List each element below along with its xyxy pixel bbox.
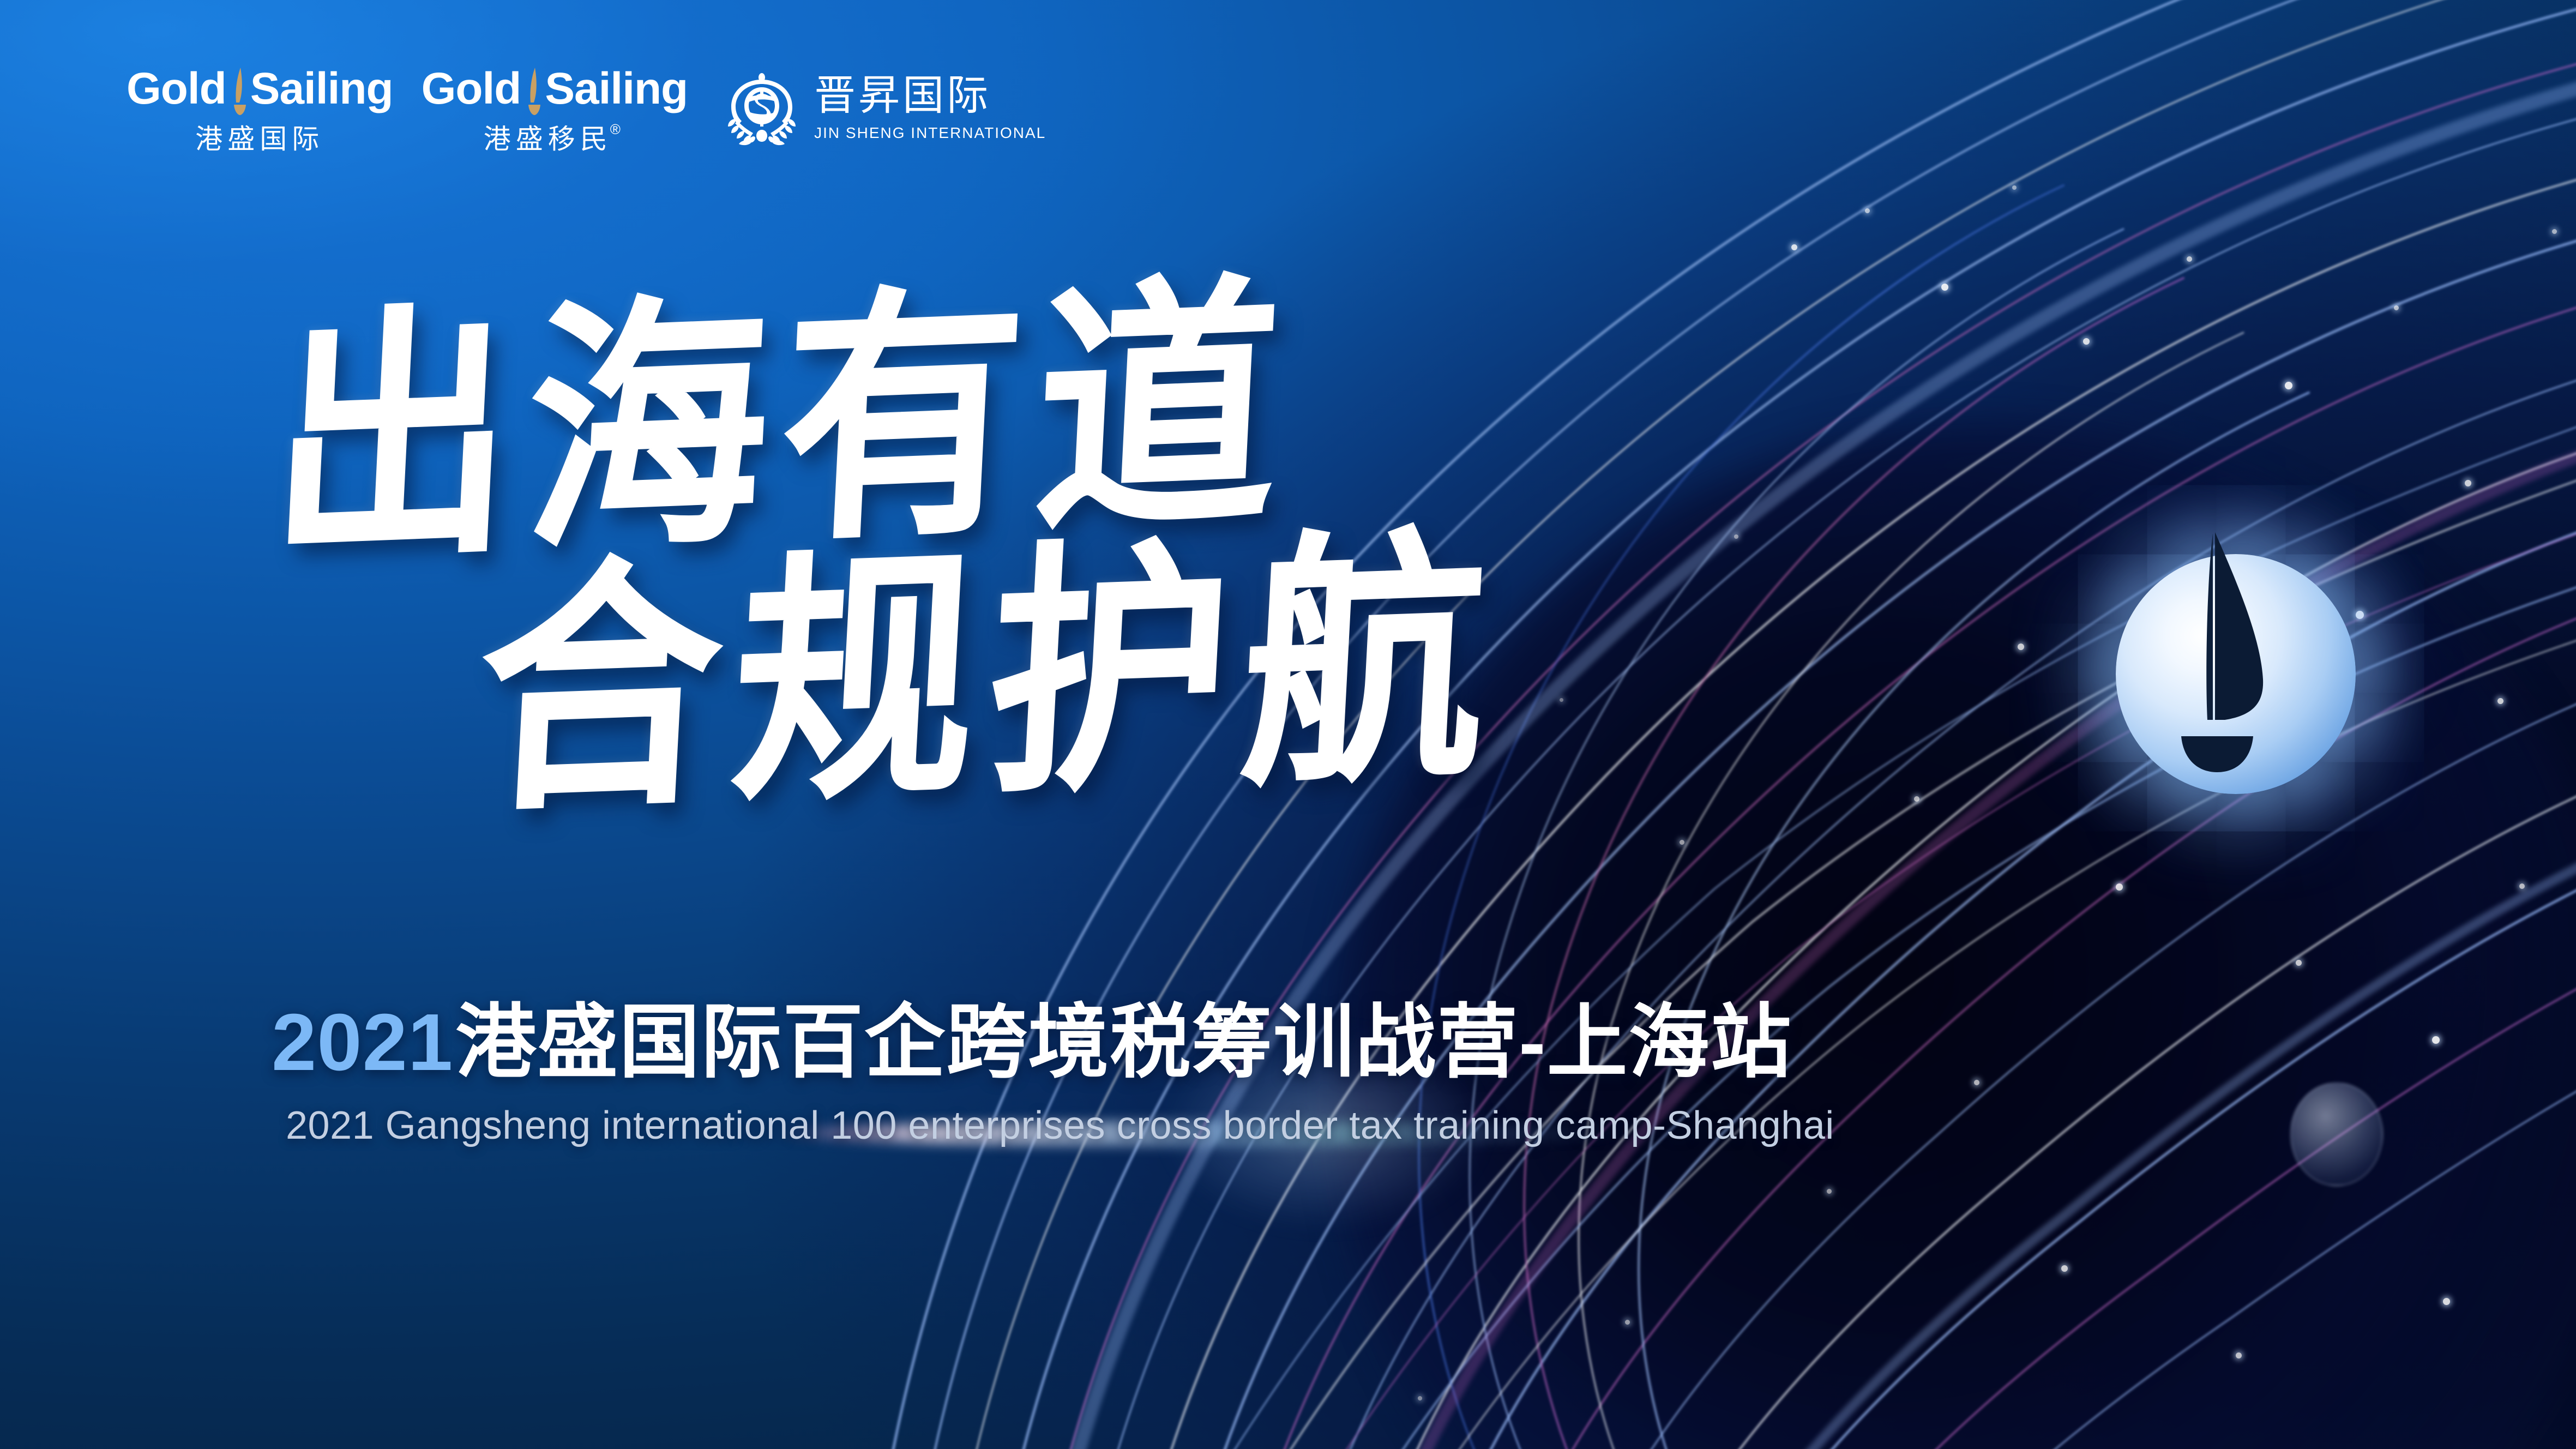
jin-sheng-english-name: JIN SHENG INTERNATIONAL xyxy=(814,125,1046,141)
sail-icon xyxy=(223,67,252,119)
promo-banner: Gold Sailing 港盛国际 Gold xyxy=(0,0,2576,1449)
subtitle-chinese-text: 港盛国际百企跨境税筹训战营-上海站 xyxy=(455,997,1792,1087)
logo-gold-sailing-guoji[interactable]: Gold Sailing 港盛国际 xyxy=(127,67,393,153)
logo-bar: Gold Sailing 港盛国际 Gold xyxy=(127,67,1046,153)
sailboat-silhouette-icon xyxy=(2094,524,2388,818)
logo-jin-sheng-international[interactable]: 晋昇国际 JIN SHENG INTERNATIONAL xyxy=(723,67,1046,147)
registered-trademark-mark: ® xyxy=(610,122,625,136)
logo-chinese-name: 港盛移民 ® xyxy=(484,125,625,153)
logo-gold-sailing-yimin[interactable]: Gold Sailing 港盛移民 ® xyxy=(422,67,688,153)
moon-and-sailboat xyxy=(2094,524,2388,818)
logo-wordmark: Gold Sailing xyxy=(127,67,393,119)
logo-wordmark: Gold Sailing xyxy=(422,67,688,119)
logo-word-gold: Gold xyxy=(422,67,521,111)
headline-line-2: 合规护航 xyxy=(473,525,1506,825)
subtitle-chinese: 2021港盛国际百企跨境税筹训战营-上海站 xyxy=(272,1002,1792,1083)
subtitle-english: 2021 Gangsheng international 100 enterpr… xyxy=(286,1106,1834,1145)
logo-word-sailing: Sailing xyxy=(250,67,393,111)
jin-sheng-chinese-name: 晋昇国际 xyxy=(814,75,1046,117)
jinsheng-crest-icon xyxy=(723,69,801,147)
jin-sheng-text-block: 晋昇国际 JIN SHENG INTERNATIONAL xyxy=(814,75,1046,141)
logo-word-gold: Gold xyxy=(127,67,226,111)
subtitle-year: 2021 xyxy=(272,997,453,1087)
headline-calligraphy: 出海有道 合规护航 xyxy=(262,316,1734,1009)
logo-word-sailing: Sailing xyxy=(545,67,688,111)
logo-chinese-name: 港盛国际 xyxy=(195,125,324,153)
sail-icon xyxy=(517,67,547,119)
glowing-bubble-orb xyxy=(2290,1083,2383,1186)
